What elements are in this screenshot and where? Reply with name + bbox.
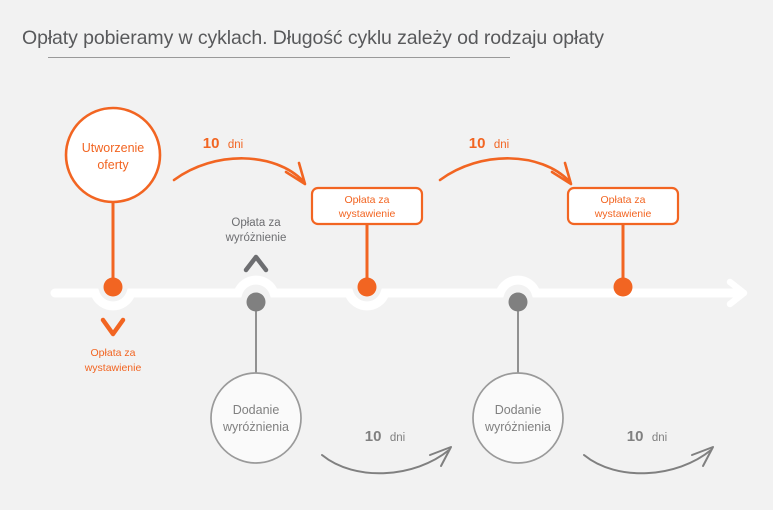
promo-node-1-dot	[247, 293, 266, 312]
duration-arrow-gray-1-curve	[322, 450, 449, 473]
promo-node-2-label-line1: Dodanie	[495, 403, 542, 417]
timeline-bar	[55, 280, 735, 306]
listing-fee-2-dot	[614, 278, 633, 297]
duration-orange-2-number: 10	[469, 135, 486, 152]
promo-caption-line1: Opłata za	[231, 217, 281, 229]
promo-caption-line2: wyróżnienie	[225, 232, 287, 244]
start-caption-line1: Opłata za	[91, 347, 136, 359]
duration-gray-2-number: 10	[627, 428, 644, 445]
duration-arrow-orange-2: 10 dni	[440, 135, 571, 184]
duration-orange-1-unit: dni	[228, 139, 243, 151]
start-node-label-line1: Utworzenie	[82, 141, 145, 155]
chevron-down-icon	[103, 320, 123, 334]
chevron-up-icon	[246, 257, 266, 270]
duration-arrow-orange-2-curve	[440, 158, 569, 181]
duration-arrow-gray-2-curve	[584, 450, 711, 473]
promo-node-2-circle	[473, 373, 563, 463]
listing-fee-node-1[interactable]: Opłata za wystawienie	[312, 188, 422, 297]
listing-fee-box-2-line2: wystawienie	[594, 208, 652, 220]
start-node[interactable]: Utworzenie oferty	[66, 108, 160, 297]
promo-node-1[interactable]: Dodanie wyróżnienia	[211, 293, 301, 464]
timeline-diagram: Utworzenie oferty Opłata za wystawienie …	[0, 0, 773, 510]
listing-fee-box-1-line2: wystawienie	[338, 208, 396, 220]
duration-arrow-gray-2: 10 dni	[584, 428, 713, 473]
duration-arrow-orange-1: 10 dni	[174, 135, 305, 184]
promo-node-2-dot	[509, 293, 528, 312]
listing-fee-node-2[interactable]: Opłata za wystawienie	[568, 188, 678, 297]
promo-caption: Opłata za wyróżnienie	[225, 217, 287, 270]
diagram-canvas: Opłaty pobieramy w cyklach. Długość cykl…	[0, 0, 773, 510]
promo-node-1-label-line1: Dodanie	[233, 403, 280, 417]
duration-orange-1-label: 10 dni	[203, 135, 244, 152]
promo-node-1-circle	[211, 373, 301, 463]
promo-node-1-label-line2: wyróżnienia	[222, 420, 289, 434]
start-node-label-line2: oferty	[97, 158, 129, 172]
start-caption: Opłata za wystawienie	[84, 320, 142, 374]
listing-fee-box-2-line1: Opłata za	[601, 194, 646, 206]
listing-fee-box-1-line1: Opłata za	[345, 194, 390, 206]
duration-arrow-orange-1-curve	[174, 158, 303, 181]
duration-orange-1-number: 10	[203, 135, 220, 152]
start-node-circle	[66, 108, 160, 202]
duration-gray-1-unit: dni	[390, 432, 405, 444]
promo-node-2-label-line2: wyróżnienia	[484, 420, 551, 434]
duration-arrow-gray-1: 10 dni	[322, 428, 451, 473]
start-node-dot	[104, 278, 123, 297]
duration-gray-2-label: 10 dni	[627, 428, 668, 445]
duration-gray-1-number: 10	[365, 428, 382, 445]
promo-node-2[interactable]: Dodanie wyróżnienia	[473, 293, 563, 464]
duration-orange-2-unit: dni	[494, 139, 509, 151]
start-caption-line2: wystawienie	[84, 362, 142, 374]
duration-gray-2-unit: dni	[652, 432, 667, 444]
listing-fee-1-dot	[358, 278, 377, 297]
duration-gray-1-label: 10 dni	[365, 428, 406, 445]
timeline-axis	[55, 280, 744, 306]
duration-orange-2-label: 10 dni	[469, 135, 510, 152]
